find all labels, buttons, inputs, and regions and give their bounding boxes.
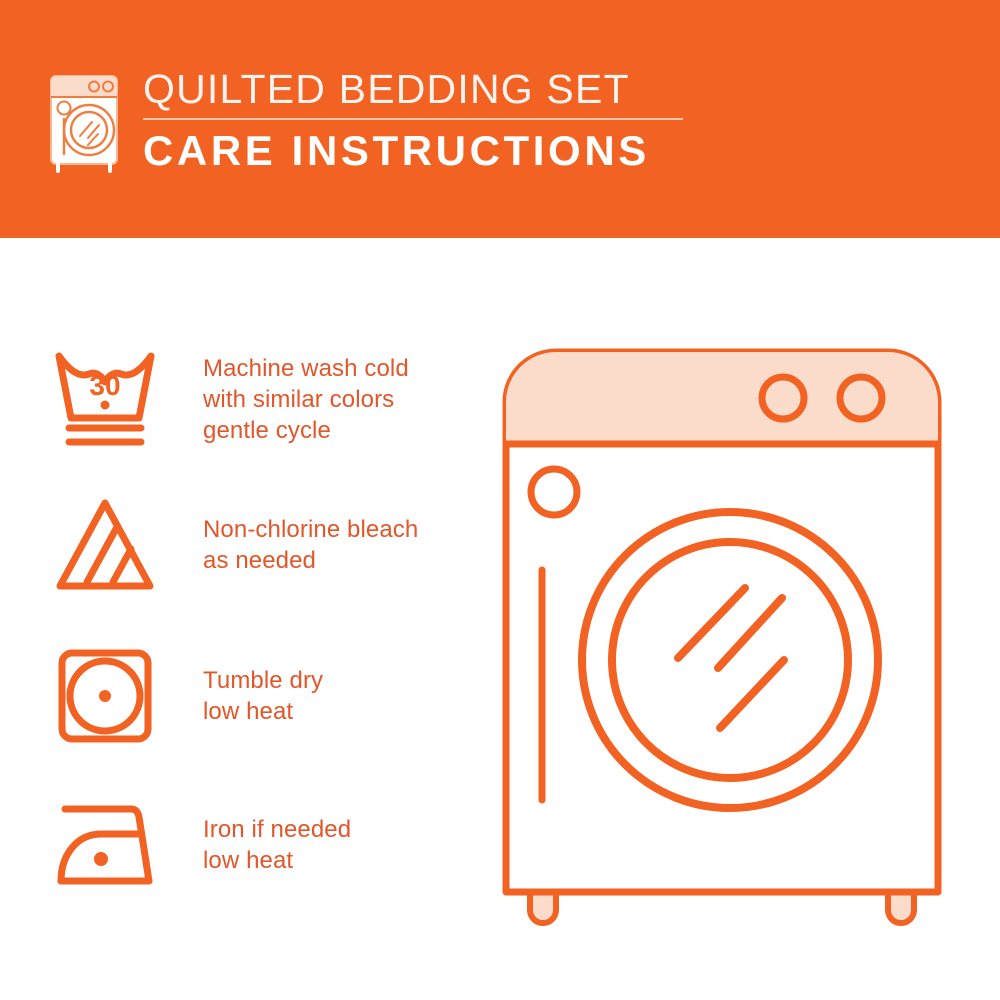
care-row-bleach: Non-chlorine bleach as needed: [50, 490, 490, 600]
non-chlorine-bleach-triangle-icon: [53, 497, 157, 593]
iron-icon: [53, 801, 157, 889]
care-instructions-infographic: QUILTED BEDDING SET CARE INSTRUCTIONS 30…: [0, 0, 1000, 1000]
title-divider: [143, 118, 683, 120]
page-title: QUILTED BEDDING SET: [143, 66, 703, 112]
care-label-wash: Machine wash cold with similar colors ge…: [203, 353, 409, 446]
washing-machine-icon: [44, 72, 130, 176]
care-label-dry: Tumble dry low heat: [203, 665, 323, 727]
care-symbol-dry: [50, 647, 160, 745]
control-panel: [506, 352, 938, 444]
care-row-wash: 30 Machine wash cold with similar colors…: [50, 340, 490, 458]
care-row-dry: Tumble dry low heat: [50, 640, 490, 752]
header-band: QUILTED BEDDING SET CARE INSTRUCTIONS: [0, 0, 1000, 238]
wash-dot-icon: [101, 401, 110, 410]
page-subtitle: CARE INSTRUCTIONS: [143, 127, 703, 175]
care-symbol-wash: 30: [50, 348, 160, 450]
care-symbol-bleach: [50, 497, 160, 593]
iron-heat-dot-icon: [94, 852, 108, 866]
dry-heat-dot-icon: [99, 690, 111, 702]
care-row-iron: Iron if needed low heat: [50, 790, 490, 900]
machine-wash-basin-icon: 30: [53, 348, 157, 450]
wash-temperature-value: 30: [89, 370, 120, 401]
care-label-iron: Iron if needed low heat: [203, 814, 351, 876]
care-symbol-iron: [50, 801, 160, 889]
tumble-dry-icon: [56, 647, 154, 745]
front-load-washing-machine-illustration: [492, 330, 952, 940]
header-title-block: QUILTED BEDDING SET CARE INSTRUCTIONS: [143, 66, 703, 175]
care-label-bleach: Non-chlorine bleach as needed: [203, 514, 418, 576]
